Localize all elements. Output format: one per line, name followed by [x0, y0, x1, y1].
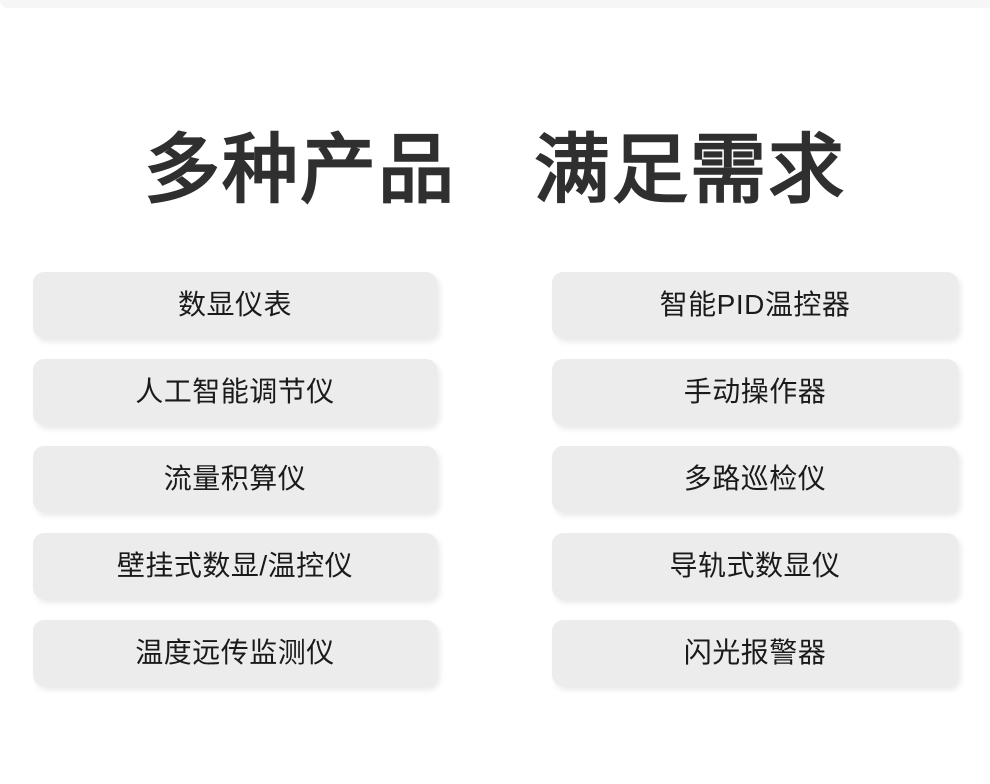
product-pill-label: 数显仪表	[178, 289, 292, 321]
product-pill-label: 智能PID温控器	[660, 289, 851, 321]
product-pill-right-1[interactable]: 智能PID温控器	[552, 272, 958, 338]
product-pill-label: 导轨式数显仪	[669, 550, 840, 582]
product-pill-left-4[interactable]: 壁挂式数显/温控仪	[33, 533, 437, 599]
product-pill-left-1[interactable]: 数显仪表	[33, 272, 437, 338]
product-pill-label: 流量积算仪	[164, 463, 307, 495]
product-pill-left-2[interactable]: 人工智能调节仪	[33, 359, 437, 425]
section-divider-strip	[0, 0, 990, 8]
product-pill-right-4[interactable]: 导轨式数显仪	[552, 533, 958, 599]
product-category-grid: 数显仪表 人工智能调节仪 流量积算仪 壁挂式数显/温控仪 温度远传监测仪 智能P…	[33, 272, 958, 686]
product-pill-label: 壁挂式数显/温控仪	[117, 550, 353, 582]
product-pill-label: 人工智能调节仪	[135, 376, 335, 408]
product-pill-label: 闪光报警器	[684, 637, 827, 669]
product-pill-right-5[interactable]: 闪光报警器	[552, 620, 958, 686]
product-pill-right-3[interactable]: 多路巡检仪	[552, 446, 958, 512]
product-category-section: 多种产品 满足需求 数显仪表 人工智能调节仪 流量积算仪 壁挂式数显/温控仪 温…	[0, 0, 990, 784]
page-title: 多种产品 满足需求	[0, 123, 990, 219]
product-pill-label: 手动操作器	[684, 376, 827, 408]
product-pill-label: 多路巡检仪	[684, 463, 827, 495]
product-pill-right-2[interactable]: 手动操作器	[552, 359, 958, 425]
product-pill-left-3[interactable]: 流量积算仪	[33, 446, 437, 512]
product-pill-left-5[interactable]: 温度远传监测仪	[33, 620, 437, 686]
product-pill-label: 温度远传监测仪	[135, 637, 335, 669]
